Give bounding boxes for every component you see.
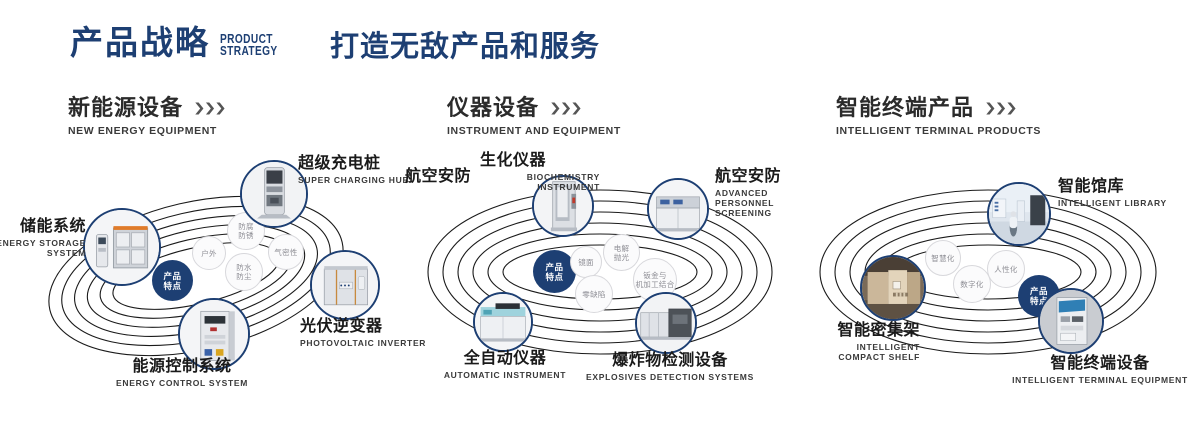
section-title-en: NEW ENERGY EQUIPMENT xyxy=(68,125,225,137)
section-title-en: INTELLIGENT TERMINAL PRODUCTS xyxy=(836,125,1041,137)
diagram-instrument: 产品特点 镜面 电解抛光 零缺陷 钣金与机加工结合 航空安防 xyxy=(395,150,815,410)
feature-bubble-outdoor: 户外 xyxy=(192,236,226,270)
node-photovoltaic-inverter[interactable] xyxy=(310,250,380,320)
page-title-cn: 产品战略 xyxy=(70,26,210,59)
chevrons-right-icon: ❯❯❯ xyxy=(984,101,1016,114)
core-badge-product-features: 产品特点 xyxy=(533,250,576,293)
feature-bubble-humanization: 人性化 xyxy=(987,250,1025,288)
feature-bubble-electropolishing: 电解抛光 xyxy=(603,234,640,271)
section-title-intelligent-terminal: 智能终端产品 ❯❯❯ INTELLIGENT TERMINAL PRODUCTS xyxy=(836,96,1041,137)
label-automatic-instrument: 全自动仪器 AUTOMATIC INSTRUMENT xyxy=(420,350,590,381)
intelligent-library-photo xyxy=(989,184,1049,244)
feature-bubble-waterproof-dustproof: 防水防尘 xyxy=(225,253,263,291)
node-explosives-detection-system[interactable] xyxy=(635,292,697,354)
label-intelligent-compact-shelf: 智能密集架 INTELLIGENT COMPACT SHELF xyxy=(815,322,920,363)
page-slogan: 打造无敌产品和服务 xyxy=(330,32,600,64)
label-biochemistry-instrument: 生化仪器 BIOCHEMISTRY INSTRUMENT xyxy=(480,152,600,193)
node-intelligent-terminal-equipment[interactable] xyxy=(1038,288,1104,354)
section-title-cn: 仪器设备 xyxy=(447,96,539,120)
feature-bubble-zero-defect: 零缺陷 xyxy=(575,275,613,313)
feature-bubble-digitalization: 数字化 xyxy=(953,265,991,303)
chevrons-right-icon: ❯❯❯ xyxy=(193,101,225,114)
label-intelligent-library: 智能馆库 INTELLIGENT LIBRARY xyxy=(1058,178,1167,209)
compact-shelf-photo xyxy=(862,257,924,319)
feature-bubble-intelligentization: 智慧化 xyxy=(925,240,961,276)
node-intelligent-compact-shelf[interactable] xyxy=(860,255,926,321)
section-title-cn: 新能源设备 xyxy=(68,96,183,120)
chevrons-right-icon: ❯❯❯ xyxy=(549,101,581,114)
screening-photo xyxy=(649,180,707,238)
terminal-equipment-photo xyxy=(1040,290,1102,352)
node-advanced-personnel-screening[interactable] xyxy=(647,178,709,240)
feature-bubble-mirror-finish: 镜面 xyxy=(570,246,602,278)
energy-storage-photo xyxy=(85,210,159,284)
label-energy-control-system: 能源控制系统 ENERGY CONTROL SYSTEM xyxy=(92,358,272,389)
section-title-cn: 智能终端产品 xyxy=(836,96,974,120)
section-title-en: INSTRUMENT AND EQUIPMENT xyxy=(447,125,621,137)
section-title-instrument: 仪器设备 ❯❯❯ INSTRUMENT AND EQUIPMENT xyxy=(447,96,621,137)
label-aviation-security-left: 航空安防 xyxy=(405,168,471,186)
charging-hub-photo xyxy=(242,162,306,226)
page-title-en: PRODUCT STRATEGY xyxy=(220,33,278,57)
section-title-new-energy: 新能源设备 ❯❯❯ NEW ENERGY EQUIPMENT xyxy=(68,96,225,137)
automatic-instrument-photo xyxy=(475,294,531,350)
label-intelligent-terminal-equipment: 智能终端设备 INTELLIGENT TERMINAL EQUIPMENT xyxy=(1000,355,1200,386)
product-strategy-infographic: 产品战略 PRODUCT STRATEGY 打造无敌产品和服务 新能源设备 ❯❯… xyxy=(0,0,1200,422)
node-automatic-instrument[interactable] xyxy=(473,292,533,352)
feature-bubble-airtightness: 气密性 xyxy=(268,234,304,270)
node-intelligent-library[interactable] xyxy=(987,182,1051,246)
explosives-detection-photo xyxy=(637,294,695,352)
diagram-intelligent-terminal: 智慧化 数字化 人性化 产品特点 xyxy=(790,150,1200,410)
label-explosives-detection-system: 爆炸物检测设备 EXPLOSIVES DETECTION SYSTEMS xyxy=(580,352,760,383)
inverter-photo xyxy=(312,252,378,318)
label-super-charging-hub: 超级充电桩 SUPER CHARGING HUB xyxy=(298,155,409,186)
label-energy-storage-system: 储能系统 ENERGY STORAGE SYSTEM xyxy=(0,218,86,259)
page-title: 产品战略 PRODUCT STRATEGY xyxy=(70,26,294,59)
diagram-new-energy: 产品特点 户外 防腐防锈 防水防尘 气密性 xyxy=(0,150,420,410)
page-title-en-line2: STRATEGY xyxy=(220,45,278,57)
node-energy-storage-system[interactable] xyxy=(83,208,161,286)
